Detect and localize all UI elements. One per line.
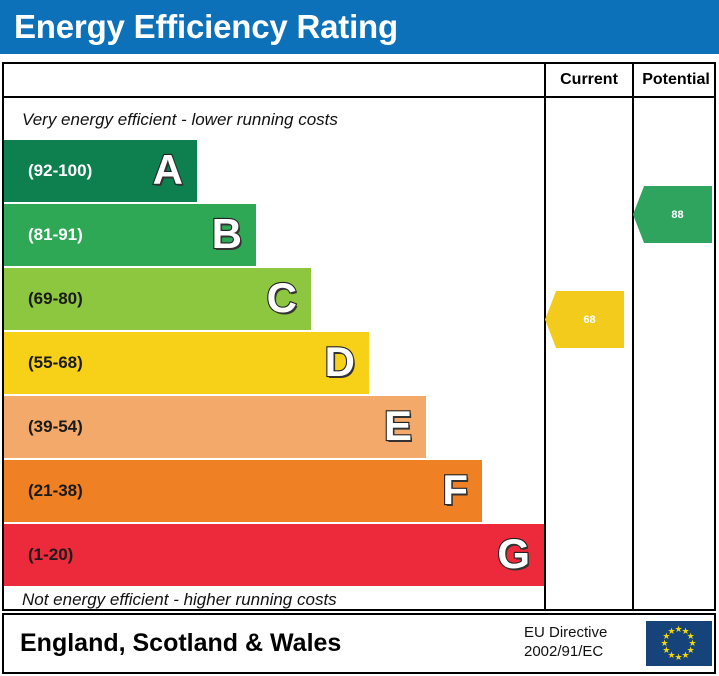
rating-arrow-potential: 88 (633, 186, 712, 243)
band-letter-a: A (153, 149, 183, 191)
band-range-b: (81-91) (28, 225, 83, 245)
band-c: (69-80)C (4, 268, 311, 330)
chart-frame: Current Potential Very energy efficient … (2, 62, 716, 611)
band-letter-d: D (325, 341, 355, 383)
column-divider-current (544, 64, 546, 609)
band-d: (55-68)D (4, 332, 369, 394)
epc-energy-efficiency-chart: Energy Efficiency Rating Current Potenti… (0, 0, 719, 676)
caption-bottom: Not energy efficient - higher running co… (22, 590, 337, 610)
band-range-c: (69-80) (28, 289, 83, 309)
footer-region-label: England, Scotland & Wales (20, 629, 341, 658)
band-e: (39-54)E (4, 396, 426, 458)
page-title: Energy Efficiency Rating (14, 8, 398, 46)
rating-value-current: 68 (573, 314, 595, 326)
band-range-f: (21-38) (28, 481, 83, 501)
band-range-a: (92-100) (28, 161, 92, 181)
column-divider-potential (632, 64, 634, 609)
title-bar: Energy Efficiency Rating (0, 0, 719, 54)
band-range-g: (1-20) (28, 545, 73, 565)
band-letter-g: G (497, 533, 530, 575)
band-letter-c: C (267, 277, 297, 319)
eu-flag-icon: ★★★★★★★★★★★★ (646, 621, 712, 666)
band-range-e: (39-54) (28, 417, 83, 437)
band-list: (92-100)A(81-91)B(69-80)C(55-68)D(39-54)… (4, 140, 544, 588)
band-a: (92-100)A (4, 140, 197, 202)
band-letter-b: B (212, 213, 242, 255)
column-header-current: Current (546, 71, 632, 89)
column-header-potential: Potential (634, 71, 718, 89)
band-range-d: (55-68) (28, 353, 83, 373)
band-letter-e: E (384, 405, 412, 447)
directive-line-1: EU Directive (524, 623, 607, 642)
footer-directive: EU Directive 2002/91/EC (524, 623, 607, 661)
eu-flag-star: ★ (668, 627, 677, 636)
directive-line-2: 2002/91/EC (524, 642, 607, 661)
band-f: (21-38)F (4, 460, 482, 522)
footer-bar: England, Scotland & Wales EU Directive 2… (2, 613, 716, 674)
band-letter-f: F (442, 469, 468, 511)
rating-arrow-current: 68 (545, 291, 624, 348)
band-b: (81-91)B (4, 204, 256, 266)
band-g: (1-20)G (4, 524, 544, 586)
caption-top: Very energy efficient - lower running co… (22, 110, 338, 130)
rating-value-potential: 88 (661, 209, 683, 221)
